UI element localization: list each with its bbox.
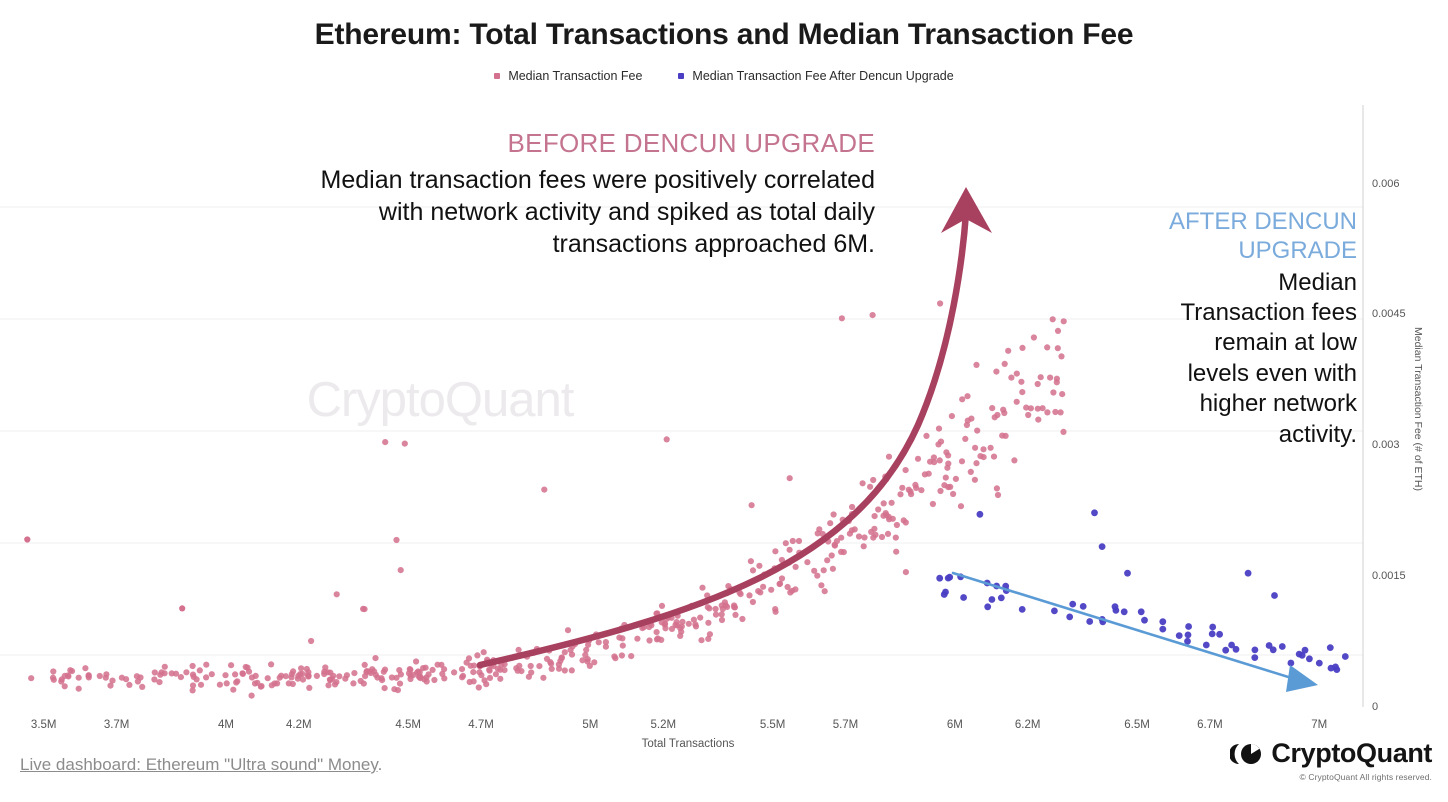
scatter-point <box>973 460 979 466</box>
scatter-point <box>1050 316 1056 322</box>
scatter-point <box>834 538 840 544</box>
scatter-point <box>677 633 683 639</box>
scatter-point <box>487 675 493 681</box>
annotation-before-line: Median transaction fees were positively … <box>110 164 875 196</box>
scatter-point <box>953 476 959 482</box>
scatter-point <box>336 673 342 679</box>
scatter-point <box>619 652 625 658</box>
scatter-point <box>989 405 995 411</box>
scatter-point <box>362 662 368 668</box>
scatter-point <box>358 678 364 684</box>
scatter-point <box>958 503 964 509</box>
scatter-point <box>413 658 419 664</box>
scatter-point <box>713 606 719 612</box>
scatter-point <box>265 675 271 681</box>
scatter-point <box>827 520 833 526</box>
scatter-point <box>988 445 994 451</box>
scatter-point <box>470 669 476 675</box>
scatter-point <box>65 672 71 678</box>
live-dashboard-link-suffix: . <box>378 755 383 774</box>
scatter-point <box>565 627 571 633</box>
scatter-point <box>198 682 204 688</box>
scatter-point <box>972 445 978 451</box>
x-axis-tick: 5M <box>582 719 598 731</box>
scatter-series-median-fee-after-dencun <box>936 509 1348 673</box>
scatter-point <box>1000 407 1006 413</box>
x-axis-tick: 5.7M <box>833 719 859 731</box>
scatter-point <box>224 680 230 686</box>
scatter-point <box>829 552 835 558</box>
scatter-series-median-fee <box>24 300 1067 698</box>
scatter-point <box>541 487 547 493</box>
scatter-point <box>1159 626 1166 633</box>
scatter-point <box>579 657 585 663</box>
scatter-point <box>977 453 983 459</box>
scatter-point <box>927 459 933 465</box>
scatter-point <box>1209 631 1216 638</box>
scatter-point <box>628 653 634 659</box>
scatter-point <box>86 674 92 680</box>
scatter-point <box>995 492 1001 498</box>
brand-name: CryptoQuant <box>1271 738 1432 769</box>
scatter-point <box>398 567 404 573</box>
scatter-point <box>739 616 745 622</box>
scatter-point <box>705 636 711 642</box>
x-axis-tick: 7M <box>1311 719 1327 731</box>
scatter-point <box>1014 399 1020 405</box>
scatter-point <box>407 666 413 672</box>
scatter-point <box>768 587 774 593</box>
scatter-point <box>1019 606 1026 613</box>
scatter-point <box>1252 647 1259 654</box>
scatter-point <box>556 661 562 667</box>
scatter-point <box>295 673 301 679</box>
scatter-point <box>203 674 209 680</box>
scatter-point <box>107 683 113 689</box>
scatter-point <box>994 485 1000 491</box>
scatter-point <box>585 656 591 662</box>
scatter-point <box>886 454 892 460</box>
scatter-point <box>860 480 866 486</box>
scatter-point <box>822 588 828 594</box>
annotation-before-heading: BEFORE DENCUN UPGRADE <box>110 128 875 160</box>
cryptoquant-logo-icon <box>1230 741 1262 767</box>
annotation-after-line: levels even with <box>1095 359 1357 389</box>
scatter-point <box>699 585 705 591</box>
chart-page: Ethereum: Total Transactions and Median … <box>0 0 1448 802</box>
scatter-point <box>334 591 340 597</box>
scatter-point <box>993 369 999 375</box>
scatter-point <box>872 513 878 519</box>
scatter-point <box>305 672 311 678</box>
scatter-point <box>705 604 711 610</box>
scatter-point <box>528 663 534 669</box>
scatter-point <box>372 655 378 661</box>
scatter-point <box>274 680 280 686</box>
scatter-point <box>620 643 626 649</box>
scatter-point <box>362 673 368 679</box>
chart-legend: Median Transaction Fee Median Transactio… <box>0 69 1448 83</box>
scatter-point <box>151 676 157 682</box>
scatter-point <box>777 581 783 587</box>
scatter-point <box>426 671 432 677</box>
scatter-point <box>1044 409 1050 415</box>
scatter-point <box>1040 405 1046 411</box>
scatter-point <box>746 592 752 598</box>
scatter-point <box>870 477 876 483</box>
scatter-point <box>1271 592 1278 599</box>
scatter-point <box>379 677 385 683</box>
scatter-point <box>487 668 493 674</box>
scatter-point <box>790 538 796 544</box>
scatter-point <box>244 665 250 671</box>
scatter-point <box>516 647 522 653</box>
scatter-point <box>373 672 379 678</box>
scatter-point <box>1279 643 1286 650</box>
scatter-point <box>1052 409 1058 415</box>
scatter-point <box>501 667 507 673</box>
scatter-point <box>839 315 845 321</box>
scatter-point <box>1080 603 1087 610</box>
scatter-point <box>360 606 366 612</box>
scatter-point <box>217 682 223 688</box>
scatter-point <box>97 673 103 679</box>
scatter-point <box>1060 429 1066 435</box>
annotation-after-line: Median <box>1095 268 1357 298</box>
scatter-point <box>830 566 836 572</box>
y-axis-tick: 0.0045 <box>1372 308 1406 320</box>
scatter-point <box>1328 665 1335 672</box>
scatter-point <box>194 676 200 682</box>
y-axis-tick: 0.006 <box>1372 178 1400 190</box>
scatter-point <box>697 615 703 621</box>
page-title: Ethereum: Total Transactions and Median … <box>0 18 1448 52</box>
scatter-point <box>451 669 457 675</box>
scatter-point <box>471 678 477 684</box>
live-dashboard-link[interactable]: Live dashboard: Ethereum "Ultra sound" M… <box>20 755 382 775</box>
scatter-point <box>350 680 356 686</box>
scatter-point <box>936 426 942 432</box>
x-axis-tick: 4.2M <box>286 719 312 731</box>
scatter-point <box>407 676 413 682</box>
scatter-point <box>938 439 944 445</box>
scatter-point <box>959 458 965 464</box>
scatter-point <box>974 428 980 434</box>
scatter-point <box>103 671 109 677</box>
scatter-point <box>596 639 602 645</box>
scatter-point <box>515 668 521 674</box>
scatter-point <box>325 682 331 688</box>
scatter-point <box>1055 328 1061 334</box>
scatter-point <box>540 675 546 681</box>
scatter-point <box>1159 618 1166 625</box>
scatter-point <box>852 526 858 532</box>
scatter-point <box>203 662 209 668</box>
scatter-point <box>126 682 132 688</box>
scatter-point <box>178 674 184 680</box>
scatter-point <box>569 667 575 673</box>
scatter-point <box>562 667 568 673</box>
scatter-point <box>841 549 847 555</box>
scatter-point <box>298 665 304 671</box>
scatter-point <box>402 441 408 447</box>
scatter-point <box>875 506 881 512</box>
scatter-point <box>980 446 986 452</box>
scatter-point <box>870 312 876 318</box>
copyright-text: © CryptoQuant All rights reserved. <box>1300 772 1433 782</box>
annotation-after-line: Transaction fees <box>1095 298 1357 328</box>
scatter-point <box>654 636 660 642</box>
scatter-point <box>861 543 867 549</box>
scatter-point <box>944 465 950 471</box>
scatter-point <box>526 674 532 680</box>
scatter-point <box>756 563 762 569</box>
scatter-point <box>559 655 565 661</box>
scatter-point <box>228 662 234 668</box>
y-axis-tick: 0 <box>1372 701 1378 713</box>
scatter-point <box>960 594 967 601</box>
scatter-point <box>719 611 725 617</box>
x-axis-tick: 3.7M <box>104 719 130 731</box>
scatter-point <box>611 653 617 659</box>
scatter-point <box>871 526 877 532</box>
scatter-point <box>731 604 737 610</box>
scatter-point <box>1333 666 1340 673</box>
scatter-point <box>881 500 887 506</box>
scatter-point <box>441 666 447 672</box>
scatter-point <box>1035 381 1041 387</box>
square-marker-icon <box>678 73 684 79</box>
y-axis-tick: 0.0015 <box>1372 570 1406 582</box>
scatter-point <box>190 682 196 688</box>
scatter-point <box>897 491 903 497</box>
x-axis-tick: 4.7M <box>468 719 494 731</box>
scatter-point <box>903 467 909 473</box>
scatter-point <box>945 575 952 582</box>
scatter-point <box>1061 318 1067 324</box>
scatter-point <box>382 685 388 691</box>
scatter-point <box>28 675 34 681</box>
scatter-point <box>391 686 397 692</box>
annotation-after-dencun: AFTER DENCUN UPGRADE Median Transaction … <box>1095 207 1357 450</box>
scatter-point <box>1055 345 1061 351</box>
scatter-point <box>1019 389 1025 395</box>
scatter-point <box>936 575 943 582</box>
scatter-point <box>679 619 685 625</box>
y-axis-label: Median Transaction Fee (# of ETH) <box>1412 327 1424 491</box>
scatter-point <box>991 454 997 460</box>
scatter-point <box>646 637 652 643</box>
scatter-point <box>1251 654 1258 661</box>
legend-label: Median Transaction Fee After Dencun Upgr… <box>692 69 953 83</box>
scatter-point <box>748 558 754 564</box>
scatter-point <box>972 477 978 483</box>
scatter-point <box>459 666 465 672</box>
scatter-point <box>327 670 333 676</box>
scatter-point <box>923 433 929 439</box>
scatter-point <box>662 625 668 631</box>
scatter-point <box>382 667 388 673</box>
scatter-point <box>1342 653 1349 660</box>
scatter-point <box>1306 655 1313 662</box>
scatter-point <box>82 665 88 671</box>
scatter-point <box>901 517 907 523</box>
annotation-after-heading: AFTER DENCUN <box>1095 207 1357 236</box>
scatter-point <box>783 540 789 546</box>
scatter-point <box>58 678 64 684</box>
scatter-point <box>1051 608 1058 615</box>
scatter-point <box>431 677 437 683</box>
scatter-point <box>536 663 542 669</box>
scatter-point <box>1176 632 1183 639</box>
scatter-point <box>824 557 830 563</box>
legend-item-median-fee-after-dencun[interactable]: Median Transaction Fee After Dencun Upgr… <box>678 69 953 83</box>
scatter-point <box>398 671 404 677</box>
scatter-point <box>382 439 388 445</box>
scatter-point <box>183 669 189 675</box>
scatter-point <box>321 669 327 675</box>
scatter-point <box>889 500 895 506</box>
scatter-point <box>1216 631 1223 638</box>
annotation-before-dencun: BEFORE DENCUN UPGRADE Median transaction… <box>110 128 875 260</box>
scatter-point <box>393 537 399 543</box>
scatter-point <box>915 456 921 462</box>
scatter-point <box>732 612 738 618</box>
scatter-point <box>893 535 899 541</box>
scatter-point <box>162 664 168 670</box>
scatter-point <box>254 680 260 686</box>
scatter-point <box>1112 603 1119 610</box>
scatter-point <box>240 671 246 677</box>
x-axis-tick: 4M <box>218 719 234 731</box>
scatter-point <box>230 687 236 693</box>
scatter-point <box>497 676 503 682</box>
scatter-point <box>879 534 885 540</box>
scatter-point <box>119 675 125 681</box>
scatter-point <box>50 668 56 674</box>
scatter-point <box>992 414 998 420</box>
scatter-point <box>222 672 228 678</box>
scatter-point <box>1222 647 1229 654</box>
scatter-point <box>304 666 310 672</box>
scatter-point <box>998 595 1005 602</box>
scatter-point <box>76 686 82 692</box>
scatter-point <box>1203 642 1210 649</box>
scatter-point <box>562 649 568 655</box>
scatter-point <box>984 603 991 610</box>
scatter-point <box>787 547 793 553</box>
scatter-point <box>1270 646 1277 653</box>
legend-label: Median Transaction Fee <box>508 69 642 83</box>
scatter-point <box>814 573 820 579</box>
scatter-point <box>719 617 725 623</box>
scatter-point <box>867 484 873 490</box>
live-dashboard-link-text: Live dashboard: Ethereum "Ultra sound" M… <box>20 755 378 774</box>
scatter-point <box>950 491 956 497</box>
scatter-point <box>686 621 692 627</box>
scatter-point <box>268 661 274 667</box>
scatter-point <box>930 501 936 507</box>
scatter-point <box>941 591 948 598</box>
scatter-point <box>327 677 333 683</box>
scatter-point <box>591 659 597 665</box>
legend-item-median-fee[interactable]: Median Transaction Fee <box>494 69 642 83</box>
scatter-point <box>760 584 766 590</box>
scatter-point <box>713 612 719 618</box>
scatter-point <box>793 564 799 570</box>
scatter-point <box>1059 391 1065 397</box>
scatter-point <box>947 484 953 490</box>
annotation-before-line: transactions approached 6M. <box>110 228 875 260</box>
scatter-point <box>861 534 867 540</box>
scatter-point <box>959 396 965 402</box>
scatter-point <box>585 642 591 648</box>
scatter-point <box>1044 344 1050 350</box>
scatter-point <box>1047 375 1053 381</box>
scatter-point <box>474 652 480 658</box>
scatter-point <box>787 475 793 481</box>
scatter-point <box>749 502 755 508</box>
scatter-point <box>1050 389 1056 395</box>
x-axis-tick: 6.5M <box>1124 719 1150 731</box>
scatter-point <box>1018 379 1024 385</box>
scatter-point <box>698 637 704 643</box>
x-axis-label: Total Transactions <box>0 738 1376 750</box>
scatter-point <box>233 679 239 685</box>
scatter-point <box>907 489 913 495</box>
scatter-point <box>792 586 798 592</box>
scatter-point <box>849 504 855 510</box>
scatter-point <box>1185 623 1192 630</box>
scatter-point <box>818 582 824 588</box>
scatter-point <box>1069 601 1076 608</box>
scatter-point <box>1316 660 1323 667</box>
scatter-point <box>1302 647 1309 654</box>
x-axis-tick: 6M <box>947 719 963 731</box>
scatter-point <box>757 589 763 595</box>
scatter-point <box>67 667 73 673</box>
scatter-point <box>772 606 778 612</box>
scatter-point <box>344 672 350 678</box>
scatter-point <box>619 635 625 641</box>
scatter-point <box>634 636 640 642</box>
x-axis-tick: 5.2M <box>650 719 676 731</box>
scatter-point <box>804 559 810 565</box>
scatter-point <box>1011 457 1017 463</box>
scatter-point <box>922 471 928 477</box>
scatter-point <box>964 393 970 399</box>
scatter-point <box>894 522 900 528</box>
scatter-point <box>831 511 837 517</box>
annotation-before-line: with network activity and spiked as tota… <box>110 196 875 228</box>
scatter-point <box>654 629 660 635</box>
scatter-point <box>190 663 196 669</box>
scatter-point <box>973 362 979 368</box>
scatter-point <box>471 663 477 669</box>
scatter-point <box>691 617 697 623</box>
scatter-point <box>157 672 163 678</box>
scatter-point <box>24 536 30 542</box>
scatter-point <box>1138 608 1145 615</box>
scatter-point <box>314 673 320 679</box>
scatter-point <box>937 300 943 306</box>
scatter-point <box>899 485 905 491</box>
scatter-point <box>544 656 550 662</box>
scatter-point <box>603 639 609 645</box>
scatter-point <box>351 670 357 676</box>
scatter-point <box>821 567 827 573</box>
scatter-point <box>76 675 82 681</box>
